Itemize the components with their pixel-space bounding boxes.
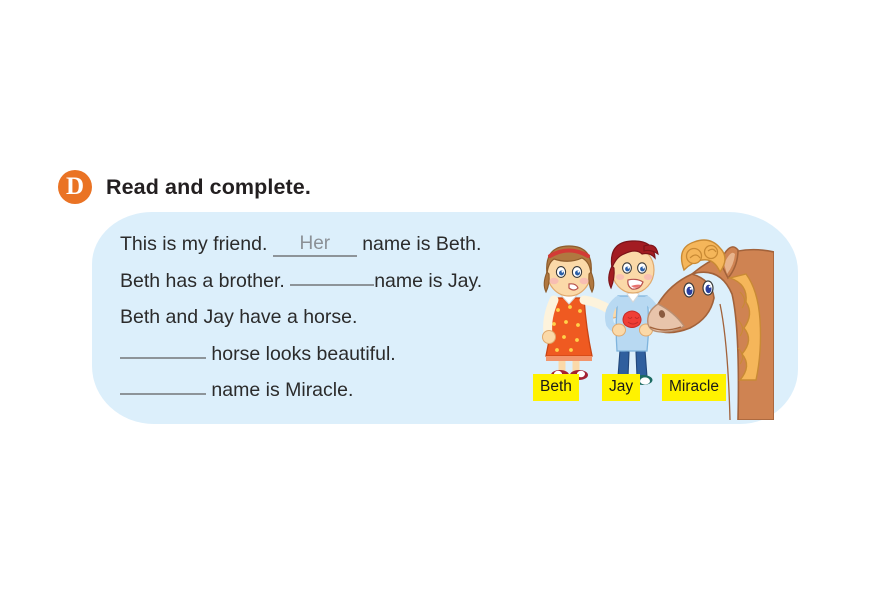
sentence-row-2: Beth has a brother. name is Jay. [120, 270, 530, 307]
exercise-header: D Read and complete. [58, 170, 311, 204]
sentence-text-before: This is my friend. [120, 233, 273, 256]
sentence-row-4: horse looks beautiful. [120, 343, 530, 380]
sentence-list: This is my friend. Her name is Beth. Bet… [120, 233, 530, 416]
answer-blank-3[interactable] [120, 357, 206, 359]
name-tag-jay: Jay [602, 374, 640, 401]
answer-blank-4[interactable] [120, 393, 206, 395]
name-tag-beth: Beth [533, 374, 579, 401]
sentence-text-before: Beth has a brother. [120, 270, 290, 293]
name-tag-miracle: Miracle [662, 374, 726, 401]
answer-blank-1[interactable]: Her [273, 233, 357, 257]
sentence-text-after: name is Jay. [374, 270, 482, 293]
sentence-row-1: This is my friend. Her name is Beth. [120, 233, 530, 270]
sentence-row-3: Beth and Jay have a horse. [120, 306, 530, 343]
sentence-text-after: horse looks beautiful. [206, 343, 396, 366]
answer-blank-2[interactable] [290, 284, 374, 286]
sentence-text-after: name is Beth. [357, 233, 482, 256]
sentence-text-after: name is Miracle. [206, 379, 353, 402]
sentence-row-5: name is Miracle. [120, 379, 530, 416]
exercise-letter-badge: D [58, 170, 92, 204]
page-title: Read and complete. [106, 175, 311, 200]
sentence-text-before: Beth and Jay have a horse. [120, 306, 357, 329]
